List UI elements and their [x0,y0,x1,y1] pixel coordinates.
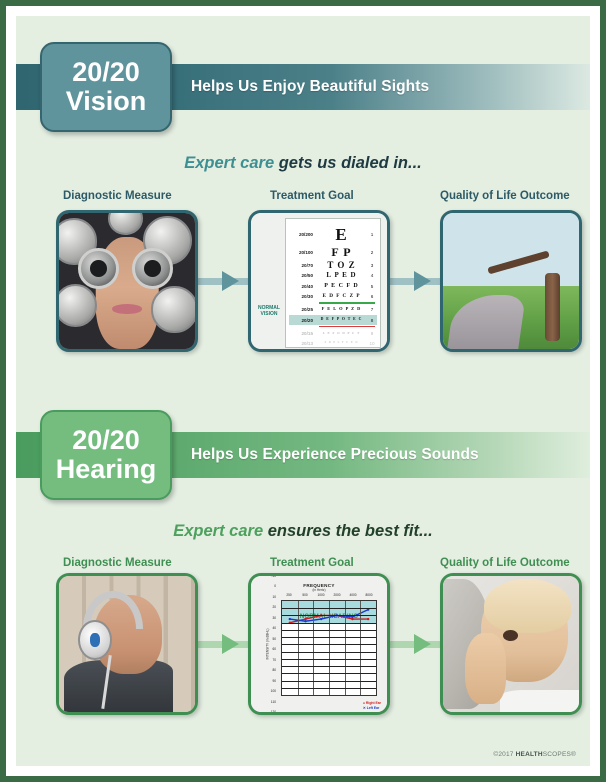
grid-line-horizontal [282,615,376,616]
hearing-col-label-outcome: Quality of Life Outcome [440,557,570,569]
arrow-head-icon [414,634,431,654]
snellen-rows: 20/200E120/100F P220/70T O Z320/50L P E … [286,219,380,352]
audiogram-point [289,618,291,620]
intensity-tick-label: 0 [274,584,276,588]
snellen-acuity: 20/100 [289,250,316,255]
hearing-column-labels: Diagnostic Measure Treatment Goal Qualit… [16,557,590,573]
vision-col-label-outcome: Quality of Life Outcome [440,190,570,202]
snellen-row: 20/25F E L O P Z D7 [289,305,377,315]
vision-col-label-diagnostic: Diagnostic Measure [63,190,172,202]
snellen-line-number: 10 [367,341,377,346]
brand-light: SCOPES® [543,751,576,758]
intensity-tick-label: 60 [272,647,276,651]
grid-line-horizontal [282,681,376,682]
grid-line-horizontal [282,673,376,674]
vision-badge-top: 20/20 [72,59,140,87]
audiogram-plot-area: NORMAL HEARING [281,600,377,696]
copyright-year: ©2017 [493,751,515,758]
frequency-tick-label: 500 [302,593,307,597]
snellen-chart-panel: NORMAL VISION 20/200E120/100F P220/70T O… [248,210,390,352]
snellen-row: 20/40P E C F D5 [289,281,377,291]
snellen-row: 20/13F D P L T C E O10 [289,339,377,349]
snellen-acuity: 20/20 [289,318,316,323]
snellen-row: 20/70T O Z3 [289,260,377,270]
arrow-head-icon [222,634,239,654]
snellen-line-number: 5 [367,284,377,289]
cherry-blossom-photo [443,213,579,349]
poster-canvas: Helps Us Enjoy Beautiful Sights 20/20 Vi… [16,16,590,766]
grid-line-horizontal [282,666,376,667]
phoropter-lens [132,248,173,289]
snellen-line-number: 2 [367,250,377,255]
phoropter-dial [56,284,97,328]
intensity-tick-label: 30 [272,616,276,620]
snellen-acuity: 20/50 [289,273,316,278]
vision-badge-bottom: Vision [66,87,147,115]
snellen-letters: E [316,226,367,243]
snellen-row: 20/200E1 [289,224,377,244]
snellen-card: 20/200E120/100F P220/70T O Z320/50L P E … [285,218,381,348]
snellen-row: 20/15L E F O D P C T9 [289,328,377,338]
snellen-letters: L E F O D P C T [316,332,367,335]
vision-arrow-1 [196,271,252,291]
vision-diagnostic-panel [56,210,198,352]
grid-line-horizontal [282,623,376,624]
hearing-band-label: Helps Us Experience Precious Sounds [191,446,479,464]
snellen-line-number: 7 [367,307,377,312]
intensity-tick-label: 20 [272,605,276,609]
snellen-line-number: 8 [367,318,377,323]
snellen-acuity: 20/70 [289,263,316,268]
snellen-letters: F P [316,246,367,258]
snellen-acuity: 20/15 [289,331,316,336]
snellen-red-rule [319,326,375,328]
intensity-tick-label: 50 [272,637,276,641]
normal-vision-label: NORMAL VISION [253,305,285,318]
snellen-letters: T O Z [316,261,367,270]
child-hand [465,633,506,704]
audiometry-booth-photo [59,576,195,712]
frequency-axis-ticks: 2505001000200040008000 [281,593,377,600]
audiogram-point [351,618,353,620]
snellen-letters: D E F P O T E C [316,318,367,322]
vision-badge: 20/20 Vision [40,42,172,132]
vision-col-label-treatment: Treatment Goal [270,190,354,202]
footer-copyright: ©2017 HEALTHSCOPES® [493,751,576,758]
tree-trunk [545,273,560,341]
snellen-line-number: 4 [367,273,377,278]
frequency-tick-label: 4000 [349,593,356,597]
grid-line-horizontal [282,659,376,660]
infographic-poster: Helps Us Enjoy Beautiful Sights 20/20 Vi… [0,0,606,782]
snellen-row: 20/10P E Z O L C F T D11 [289,349,377,352]
vision-tagline: Expert care gets us dialed in... [16,154,590,173]
audiogram-point [320,618,322,620]
grid-line-horizontal [282,630,376,631]
blossom-canopy [440,210,582,289]
snellen-row: 20/20D E F P O T E C8 [289,315,377,325]
intensity-tick-label: 100 [271,689,276,693]
snellen-letters: F D P L T C E O [316,342,367,345]
snellen-line-number: 9 [367,331,377,336]
snellen-chart: NORMAL VISION 20/200E120/100F P220/70T O… [251,213,387,349]
grid-line-horizontal [282,644,376,645]
grid-line-horizontal [282,608,376,609]
hearing-tagline: Expert care ensures the best fit... [16,522,590,541]
child-whisper-photo [443,576,579,712]
snellen-row: 20/100F P2 [289,245,377,260]
snellen-line-number: 1 [367,232,377,237]
intensity-tick-label: 70 [272,658,276,662]
snellen-acuity: 20/13 [289,341,316,346]
vision-column-labels: Diagnostic Measure Treatment Goal Qualit… [16,190,590,206]
snellen-acuity: 20/25 [289,307,316,312]
grid-line-horizontal [282,637,376,638]
audiogram-legend: ● Right Ear ✕ Left Ear [363,701,381,711]
audiogram-panel: FREQUENCY (in Hertz) 2505001000200040008… [248,573,390,715]
hearing-diagnostic-panel [56,573,198,715]
vision-outcome-panel [440,210,582,352]
arrow-head-icon [414,271,431,291]
vision-arrow-2 [388,271,444,291]
snellen-letters: L P E D [316,272,367,279]
vision-tagline-lead: Expert care [184,154,274,172]
intensity-tick-label: 110 [271,700,276,704]
legend-left-ear: ✕ Left Ear [363,706,381,711]
snellen-letters: F E L O P Z D [316,307,367,311]
child-collar [500,690,579,712]
headphone-cup [78,620,112,661]
intensity-tick-label: 80 [272,668,276,672]
intensity-axis-ticks: -100102030405060708090100110120 [263,576,276,712]
grid-line-horizontal [282,688,376,689]
frequency-tick-label: 1000 [317,593,324,597]
hearing-arrow-1 [196,634,252,654]
snellen-acuity: 20/30 [289,294,316,299]
snellen-green-rule [319,302,375,304]
child-hair [484,579,571,633]
grid-line-horizontal [282,652,376,653]
vision-band-label: Helps Us Enjoy Beautiful Sights [191,78,429,96]
snellen-row: 20/30E D F C Z P6 [289,292,377,302]
arrow-head-icon [222,271,239,291]
normal-vision-line2: VISION [253,311,285,317]
snellen-acuity: 20/200 [289,232,316,237]
snellen-letters: E D F C Z P [316,294,367,299]
hearing-outcome-panel [440,573,582,715]
intensity-tick-label: 120 [271,710,276,714]
phoropter-dial [151,286,197,332]
snellen-line-number: 3 [367,263,377,268]
intensity-tick-label: 90 [272,679,276,683]
hearing-arrow-2 [388,634,444,654]
audiogram-point [367,618,369,620]
hearing-tagline-rest: ensures the best fit... [268,522,433,540]
patient-lips [112,304,142,314]
phoropter-lens [78,248,119,289]
frequency-tick-label: 2000 [333,593,340,597]
hearing-col-label-treatment: Treatment Goal [270,557,354,569]
snellen-row: 20/50L P E D4 [289,271,377,281]
vision-tagline-rest: gets us dialed in... [279,154,422,172]
brand-bold: HEALTH [516,751,543,758]
hearing-badge-bottom: Hearing [56,455,157,483]
hearing-badge: 20/20 Hearing [40,410,172,500]
intensity-tick-label: 10 [272,595,276,599]
snellen-letters: P E C F D [316,283,367,289]
audiogram-point [304,618,306,620]
frequency-tick-label: 8000 [365,593,372,597]
phoropter-photo [59,213,195,349]
audiogram-chart: FREQUENCY (in Hertz) 2505001000200040008… [251,576,387,712]
hearing-badge-top: 20/20 [72,427,140,455]
intensity-tick-label: 40 [272,626,276,630]
intensity-tick-label: -10 [271,574,276,578]
frequency-tick-label: 250 [286,593,291,597]
snellen-acuity: 20/40 [289,284,316,289]
hearing-tagline-lead: Expert care [173,522,263,540]
hearing-col-label-diagnostic: Diagnostic Measure [63,557,172,569]
snellen-line-number: 6 [367,294,377,299]
phoropter-dial [108,210,143,235]
